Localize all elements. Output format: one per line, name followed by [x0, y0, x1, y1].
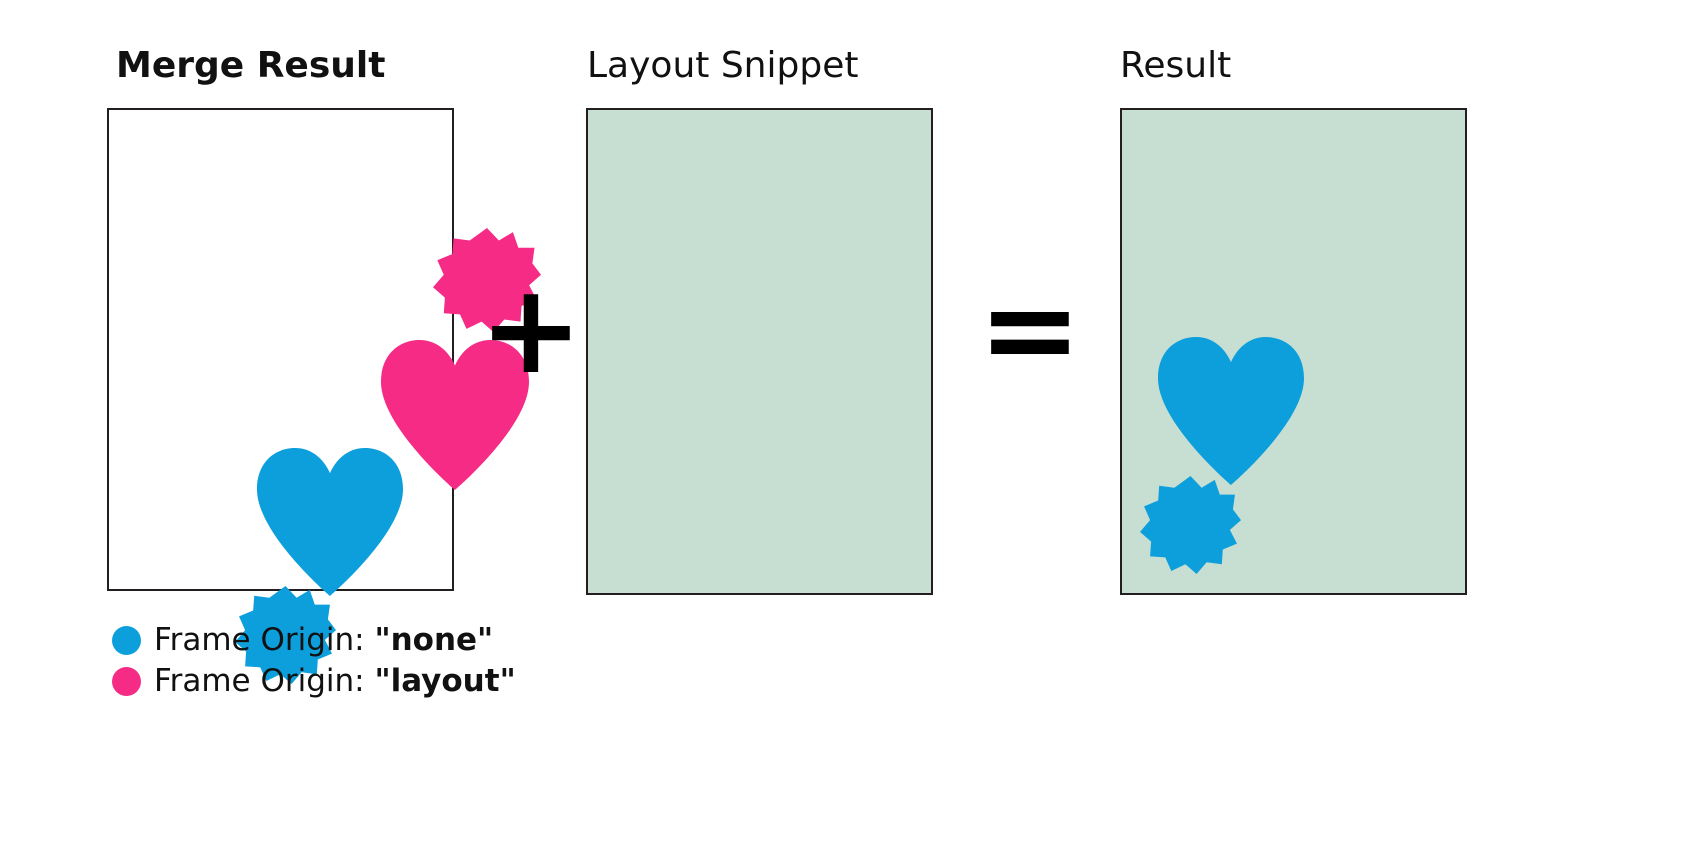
legend-label-none: Frame Origin: "none" — [154, 625, 493, 656]
result-heart-blue-icon — [1158, 337, 1304, 485]
legend-swatch-blue-icon — [112, 626, 141, 655]
panel-title-result: Result — [1120, 48, 1231, 84]
legend-label-text-1: Frame Origin: — [154, 663, 374, 699]
legend-label-layout: Frame Origin: "layout" — [154, 666, 516, 697]
merge-result-panel — [107, 108, 454, 591]
panel-title-layout-snippet: Layout Snippet — [587, 48, 858, 84]
legend-value-text-0: "none" — [374, 622, 493, 658]
plus-operator-icon: + — [479, 268, 583, 392]
legend-swatch-pink-icon — [112, 667, 141, 696]
legend-item-frame-origin-none: Frame Origin: "none" — [112, 620, 516, 661]
layout-snippet-panel — [586, 108, 933, 595]
equals-operator-icon: = — [978, 268, 1082, 392]
legend-item-frame-origin-layout: Frame Origin: "layout" — [112, 661, 516, 702]
heart-blue-icon — [257, 448, 403, 596]
result-starburst-blue-icon — [1140, 476, 1241, 574]
panel-title-merge-result: Merge Result — [116, 48, 385, 84]
legend-value-text-1: "layout" — [374, 663, 515, 699]
legend-label-text-0: Frame Origin: — [154, 622, 374, 658]
legend: Frame Origin: "none" Frame Origin: "layo… — [112, 620, 516, 702]
